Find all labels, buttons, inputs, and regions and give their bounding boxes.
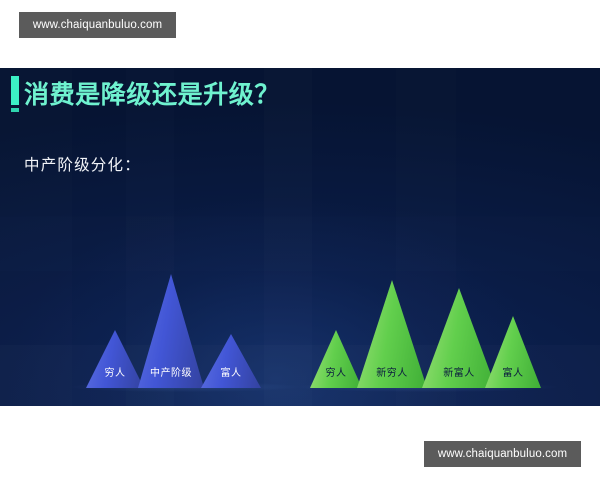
- pyramid-bar: 富人: [485, 316, 541, 388]
- pyramid-bar: 新穷人: [357, 280, 427, 388]
- title-accent-bar: [11, 76, 19, 105]
- watermark-bottom: www.chaiquanbuluo.com: [424, 441, 581, 467]
- slide-title: 消费是降级还是升级？: [24, 81, 280, 110]
- pyramid-bar-label: 穷人: [105, 368, 126, 380]
- pyramid-bar: 穷人: [86, 330, 144, 388]
- slide-image: www.chaiquanbuluo.com 消费是降级还是升级？ 中产阶级分化：…: [0, 0, 600, 480]
- pyramid-bar-label: 富人: [221, 368, 242, 380]
- pyramid-bar-label: 富人: [503, 368, 524, 380]
- slide-subtitle: 中产阶级分化：: [24, 156, 141, 176]
- pyramid-bar-label: 新穷人: [376, 368, 408, 380]
- title-accent-bar-tick: [11, 108, 19, 112]
- pyramid-group-diverged: 穷人 新穷人 新富人 富人: [310, 258, 540, 388]
- watermark-top: www.chaiquanbuluo.com: [19, 12, 176, 38]
- pyramid-bar-label: 穷人: [326, 368, 347, 380]
- pyramid-bar: 穷人: [310, 330, 362, 388]
- pyramid-bar-label: 新富人: [443, 368, 475, 380]
- pyramid-group-current: 穷人 中产阶级 富人: [84, 258, 284, 388]
- presentation-slide: 消费是降级还是升级？ 中产阶级分化： 穷人 中产阶级 富人 穷人: [0, 68, 600, 406]
- pyramid-bar: 富人: [201, 334, 261, 388]
- pyramid-bar: 中产阶级: [138, 274, 204, 388]
- pyramid-bar-label: 中产阶级: [150, 368, 192, 380]
